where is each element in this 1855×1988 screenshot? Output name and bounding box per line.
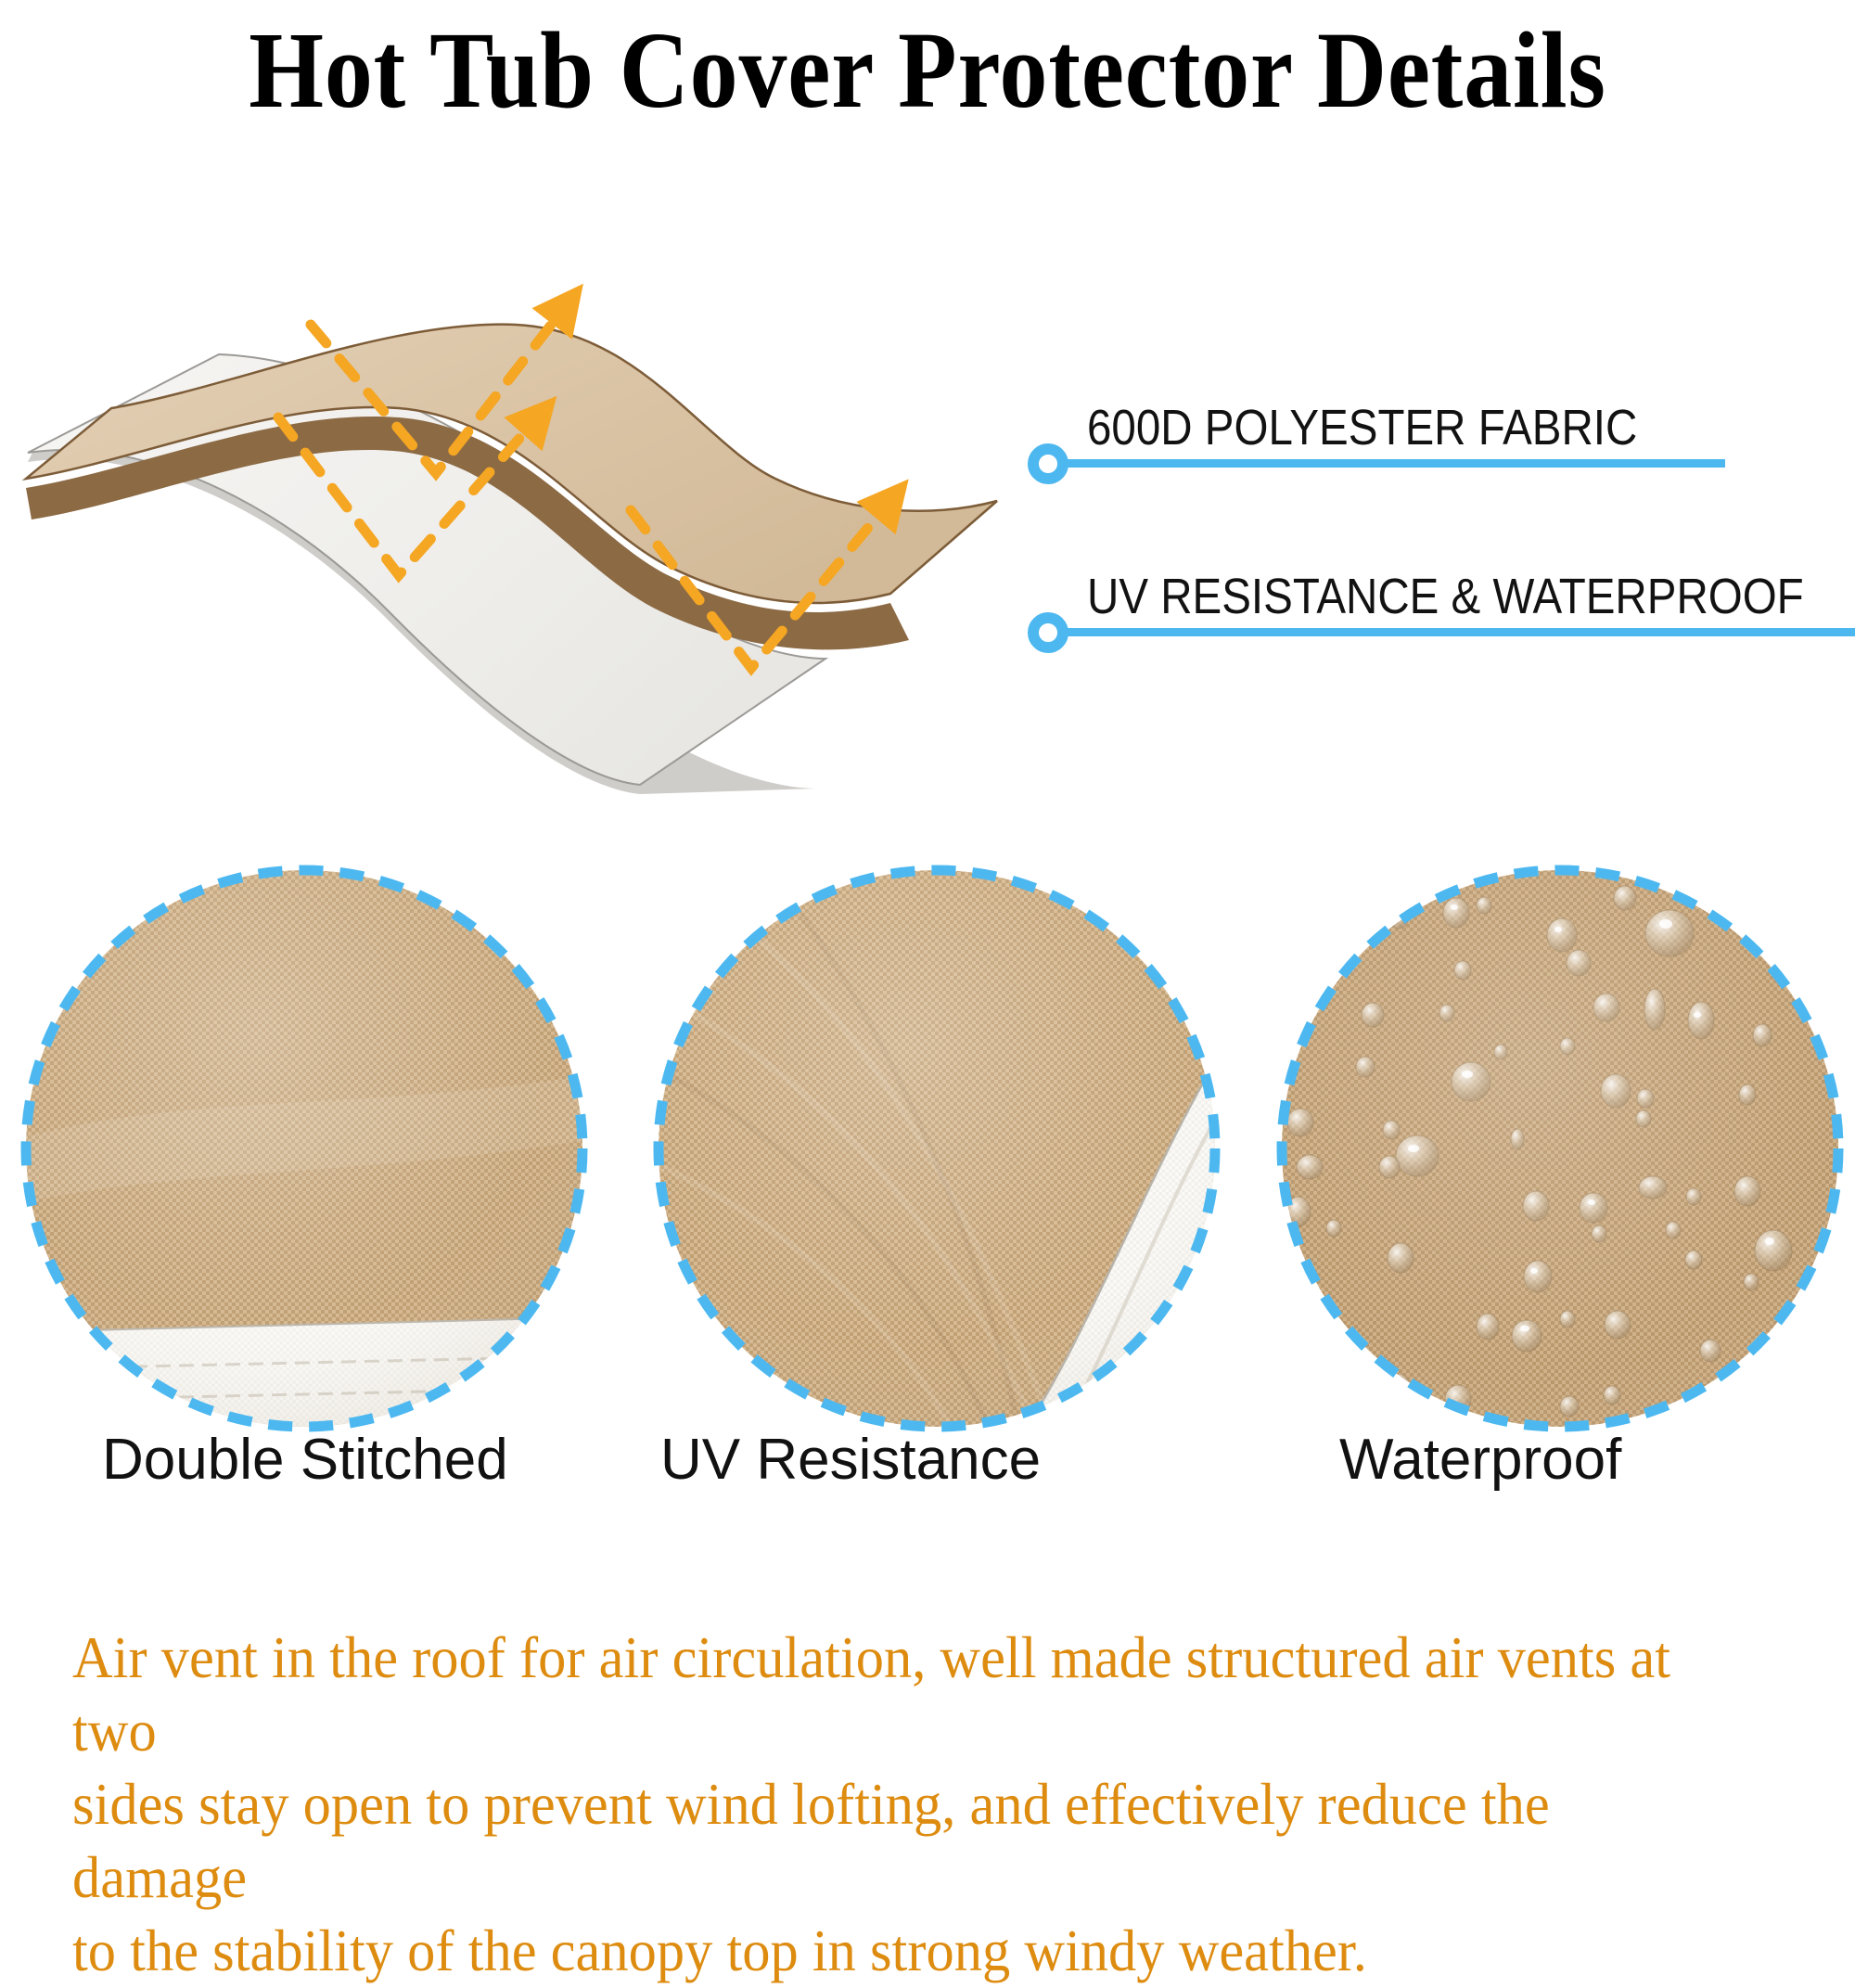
bottom-note: Air vent in the roof for air circulation…: [72, 1622, 1729, 1988]
fabric-layer-diagram: [0, 139, 1113, 872]
feature-photo-double-stitched: [17, 861, 592, 1436]
callout-label: UV RESISTANCE & WATERPROOF: [1087, 568, 1804, 625]
feature-photo-uv-resistance: [649, 861, 1224, 1436]
ring-marker-icon: [1028, 443, 1068, 484]
page-title: Hot Tub Cover Protector Details: [111, 13, 1744, 128]
feature-uv-resistance: UV Resistance: [649, 861, 1224, 1510]
feature-waterproof: Waterproof: [1273, 861, 1848, 1510]
feature-label: Waterproof: [1273, 1425, 1848, 1495]
feature-circle-row: Double Stitched: [0, 861, 1855, 1510]
ring-marker-icon: [1028, 612, 1068, 653]
callout-leader-line: [1065, 628, 1855, 636]
bottom-note-line-1: Air vent in the roof for air circulation…: [72, 1622, 1729, 1768]
feature-photo-waterproof: [1273, 861, 1848, 1436]
feature-label: Double Stitched: [17, 1425, 592, 1495]
callout-label: 600D POLYESTER FABRIC: [1087, 399, 1637, 456]
callout-leader-line: [1065, 459, 1725, 468]
bottom-note-line-3: to the stability of the canopy top in st…: [72, 1915, 1729, 1988]
feature-double-stitched: Double Stitched: [17, 861, 592, 1510]
feature-label: UV Resistance: [649, 1425, 1224, 1495]
bottom-note-line-2: sides stay open to prevent wind lofting,…: [72, 1768, 1729, 1915]
